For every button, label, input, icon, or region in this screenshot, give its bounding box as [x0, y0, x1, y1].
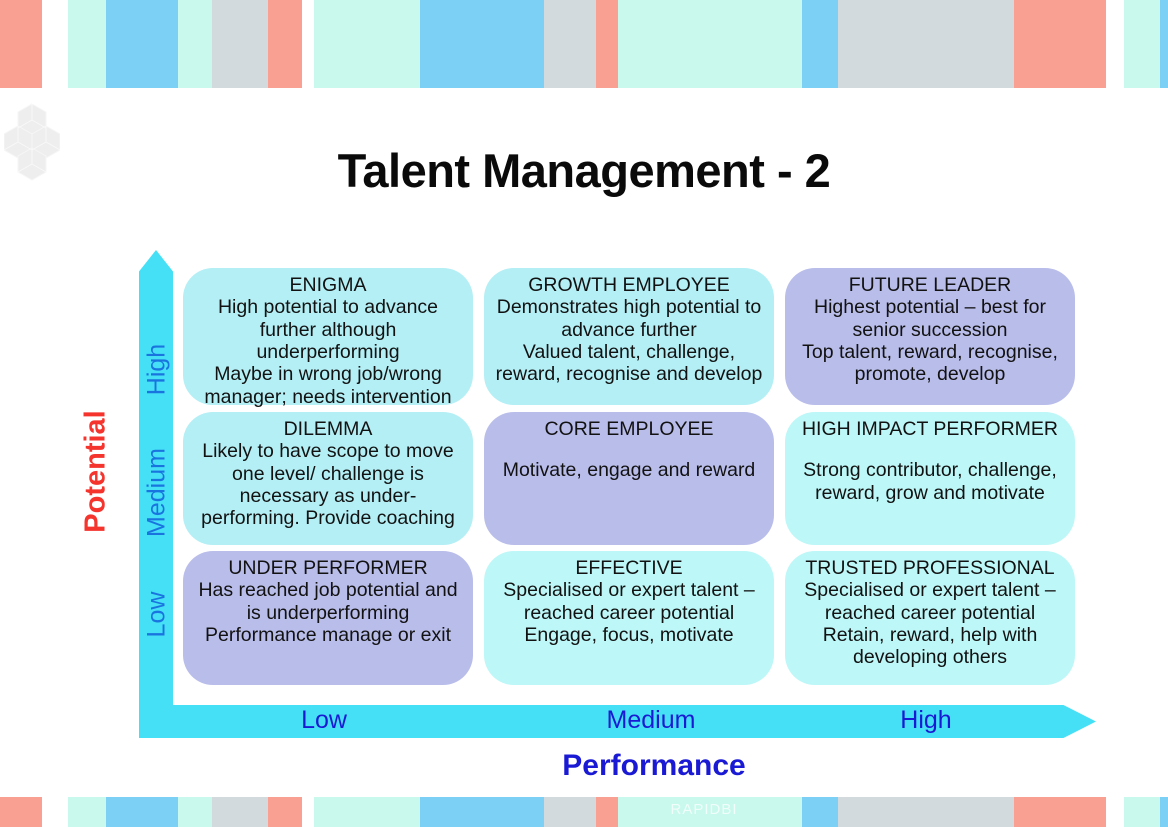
decor-stripe: [314, 797, 420, 827]
decor-stripe: [1014, 0, 1106, 88]
grid-cell-title: ENIGMA: [290, 274, 367, 296]
decor-stripe: [178, 797, 212, 827]
decor-stripe: [1106, 0, 1124, 88]
grid-cell-body: Motivate, engage and reward: [503, 459, 756, 481]
decor-stripe: [1160, 0, 1168, 88]
grid-cell-title: FUTURE LEADER: [849, 274, 1012, 296]
decor-stripe: [1124, 0, 1160, 88]
decor-stripe: [420, 797, 544, 827]
grid-cell-dilemma[interactable]: DILEMMALikely to have scope to move one …: [183, 412, 473, 545]
decor-stripe: [1160, 797, 1168, 827]
decor-stripe: [268, 797, 302, 827]
decor-stripe: [596, 0, 618, 88]
decor-stripe: [596, 797, 618, 827]
decor-stripe: [420, 0, 544, 88]
decor-stripe: [1106, 797, 1124, 827]
grid-cell-enigma[interactable]: ENIGMAHigh potential to advance further …: [183, 268, 473, 405]
grid-cell-title: DILEMMA: [284, 418, 373, 440]
grid-cell-body: Highest potential – best for senior succ…: [793, 296, 1067, 385]
decor-stripe: [68, 0, 106, 88]
x-tick-low: Low: [224, 706, 424, 735]
top-stripe-band: [0, 0, 1168, 88]
grid-cell-body: Specialised or expert talent – reached c…: [793, 579, 1067, 668]
decor-stripe: [0, 797, 42, 827]
y-axis-title: Potential: [80, 372, 113, 572]
grid-cell-growth-employee[interactable]: GROWTH EMPLOYEEDemonstrates high potenti…: [484, 268, 774, 405]
decor-stripe: [212, 797, 268, 827]
decor-stripe: [42, 0, 68, 88]
decor-stripe: [838, 797, 1014, 827]
decor-stripe: [314, 0, 420, 88]
grid-cell-body: Strong contributor, challenge, reward, g…: [793, 459, 1067, 504]
grid-cell-effective[interactable]: EFFECTIVESpecialised or expert talent – …: [484, 551, 774, 685]
grid-cell-title: CORE EMPLOYEE: [544, 418, 713, 440]
grid-cell-title: EFFECTIVE: [575, 557, 682, 579]
grid-cell-title: HIGH IMPACT PERFORMER: [802, 418, 1058, 440]
grid-cell-title: UNDER PERFORMER: [228, 557, 427, 579]
decor-stripe: [178, 0, 212, 88]
bottom-stripe-band: RAPIDBI: [0, 797, 1168, 827]
x-tick-medium: Medium: [551, 706, 751, 735]
decor-stripe: [106, 0, 178, 88]
decor-stripe: [106, 797, 178, 827]
grid-cell-under-performer[interactable]: UNDER PERFORMERHas reached job potential…: [183, 551, 473, 685]
decor-stripe: [68, 797, 106, 827]
grid-cell-title: GROWTH EMPLOYEE: [528, 274, 730, 296]
grid-cell-future-leader[interactable]: FUTURE LEADERHighest potential – best fo…: [785, 268, 1075, 405]
grid-cell-body: High potential to advance further althou…: [191, 296, 465, 408]
grid-cell-title: TRUSTED PROFESSIONAL: [805, 557, 1054, 579]
grid-cell-body: Likely to have scope to move one level/ …: [191, 440, 465, 529]
grid-cell-trusted-professional[interactable]: TRUSTED PROFESSIONALSpecialised or exper…: [785, 551, 1075, 685]
decor-stripe: [838, 0, 1014, 88]
decor-stripe: [302, 797, 314, 827]
x-tick-high: High: [826, 706, 1026, 735]
y-tick-low: Low: [143, 535, 172, 695]
grid-cell-high-impact-performer[interactable]: HIGH IMPACT PERFORMERStrong contributor,…: [785, 412, 1075, 545]
decor-stripe: [802, 0, 838, 88]
decor-stripe: [212, 0, 268, 88]
decor-stripe: [544, 0, 596, 88]
decor-stripe: [42, 797, 68, 827]
x-axis-title: Performance: [139, 749, 1168, 783]
grid-cell-body: Specialised or expert talent – reached c…: [492, 579, 766, 646]
decor-stripe: [302, 0, 314, 88]
grid-cell-body: Demonstrates high potential to advance f…: [492, 296, 766, 385]
page-title: Talent Management - 2: [0, 143, 1168, 198]
decor-stripe: [0, 0, 42, 88]
decor-stripe: [1124, 797, 1160, 827]
decor-stripe: [268, 0, 302, 88]
decor-stripe: [802, 797, 838, 827]
decor-stripe: [618, 0, 802, 88]
grid-cell-core-employee[interactable]: CORE EMPLOYEEMotivate, engage and reward: [484, 412, 774, 545]
decor-stripe: [1014, 797, 1106, 827]
rapidbi-watermark: RAPIDBI: [644, 801, 764, 818]
grid-cell-body: Has reached job potential and is underpe…: [191, 579, 465, 646]
decor-stripe: [544, 797, 596, 827]
slide-canvas: Talent Management - 2 Potential Performa…: [0, 0, 1168, 827]
